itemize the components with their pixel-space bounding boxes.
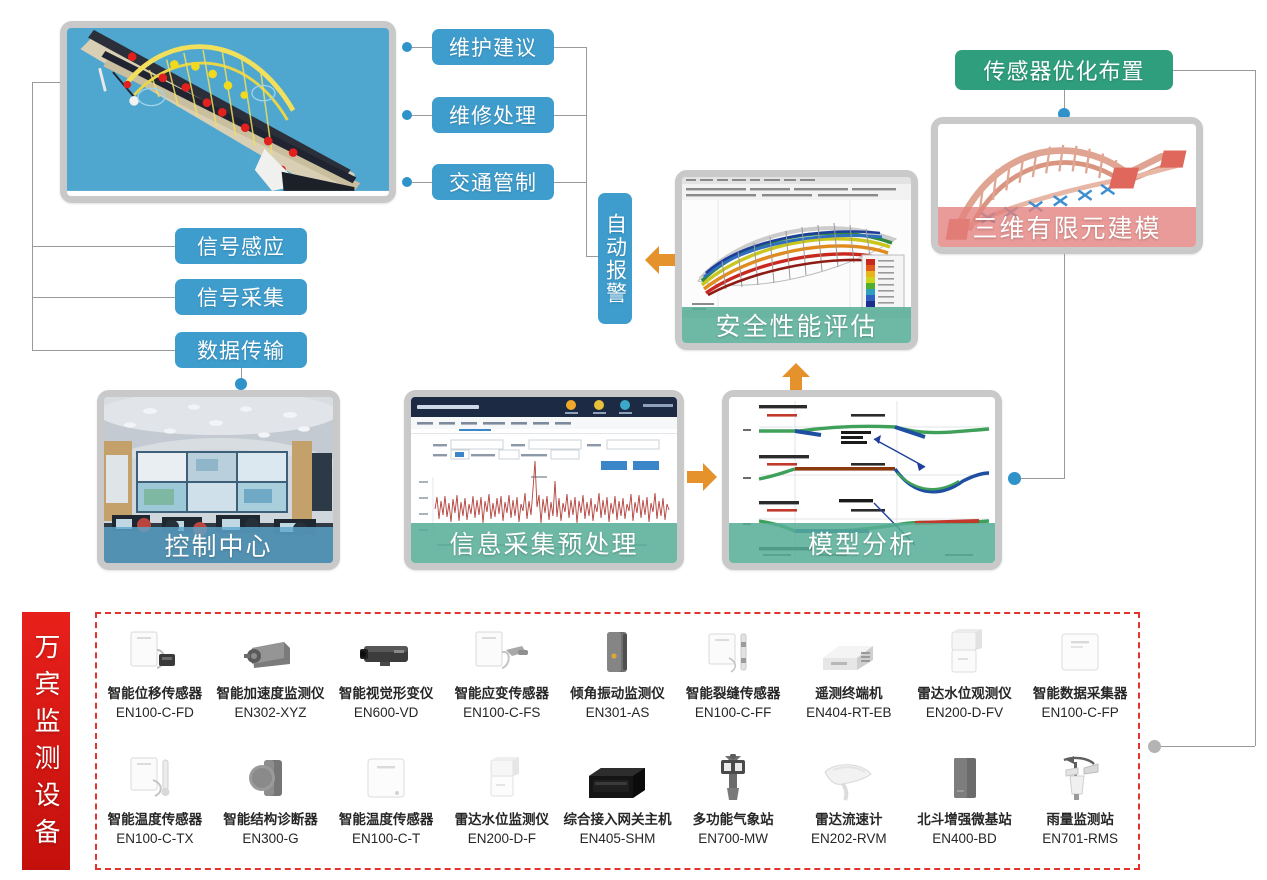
label-sensor-optimal-layout[interactable]: 传感器优化布置 bbox=[955, 50, 1173, 90]
devices-banner: 万宾监测设备 bbox=[22, 612, 70, 870]
device-item[interactable]: 智能加速度监测仪 EN302-XYZ bbox=[213, 628, 329, 723]
device-name: 智能结构诊断器 bbox=[223, 811, 318, 829]
accelerometer-glyph bbox=[234, 628, 306, 680]
device-item[interactable]: 雷达水位监测仪 EN200-D-F bbox=[444, 754, 560, 849]
strain-sensor-glyph bbox=[466, 628, 538, 680]
panel-model-analysis-screen: 模型分析 bbox=[729, 397, 995, 563]
dot-devices-link bbox=[1148, 740, 1161, 753]
right-outer-trunk bbox=[1255, 70, 1256, 746]
device-name: 雨量监测站 bbox=[1046, 811, 1114, 829]
diagram-canvas: 维护建议 维修处理 交通管制 自动报警 信号感应 信号采集 数据传输 传感器优化… bbox=[0, 0, 1267, 880]
accelerometer-icon bbox=[234, 628, 306, 680]
alarm-trunk-line bbox=[586, 47, 587, 256]
inclination-vibration-icon bbox=[581, 628, 653, 680]
device-model: EN200-D-F bbox=[468, 829, 536, 849]
inclinometer-glyph bbox=[581, 628, 653, 680]
devices-row-1: 智能位移传感器 EN100-C-FD 智能加速度监测仪 EN302-XYZ bbox=[97, 628, 1138, 723]
device-name: 智能视觉形变仪 bbox=[339, 685, 434, 703]
line-fem-to-model-analysis bbox=[1064, 254, 1065, 478]
vision-deformation-camera-icon bbox=[350, 628, 422, 680]
panel-control-center-screen: 控制中心 bbox=[104, 397, 333, 563]
device-item[interactable]: 遥测终端机 EN404-RT-EB bbox=[791, 628, 907, 723]
device-model: EN405-SHM bbox=[580, 829, 656, 849]
strain-sensor-icon bbox=[466, 628, 538, 680]
displacement-sensor-glyph bbox=[119, 628, 191, 680]
data-logger-glyph bbox=[1044, 628, 1116, 680]
dot-repair-handling bbox=[402, 110, 412, 120]
device-model: EN100-C-T bbox=[352, 829, 420, 849]
device-name: 雷达水位监测仪 bbox=[455, 811, 550, 829]
device-item[interactable]: 智能温度传感器 EN100-C-T bbox=[328, 754, 444, 849]
label-signal-sensing[interactable]: 信号感应 bbox=[175, 228, 307, 264]
gateway-glyph bbox=[581, 754, 653, 806]
device-name: 智能位移传感器 bbox=[108, 685, 203, 703]
bridge-sensor-layout-illustration bbox=[67, 28, 389, 191]
panel-data-preprocessing-screen: 信息采集预处理 bbox=[411, 397, 677, 563]
dot-traffic-control bbox=[402, 177, 412, 187]
device-model: EN300-G bbox=[242, 829, 298, 849]
device-model: EN100-C-TX bbox=[116, 829, 193, 849]
label-signal-collect[interactable]: 信号采集 bbox=[175, 279, 307, 315]
arrow-up-icon bbox=[780, 363, 812, 393]
label-repair-handling[interactable]: 维修处理 bbox=[432, 97, 554, 133]
rtu-terminal-icon bbox=[813, 628, 885, 680]
displacement-sensor-icon bbox=[119, 628, 191, 680]
device-item[interactable]: 智能数据采集器 EN100-C-FP bbox=[1022, 628, 1138, 723]
crack-sensor-glyph bbox=[697, 628, 769, 680]
line-traffic-control bbox=[412, 182, 434, 183]
device-name: 雷达水位观测仪 bbox=[917, 685, 1012, 703]
panel-safety-evaluation[interactable]: 安全性能评估 bbox=[675, 170, 918, 350]
device-model: EN100-C-FF bbox=[695, 703, 772, 723]
label-maintenance-advice[interactable]: 维护建议 bbox=[432, 29, 554, 65]
device-item[interactable]: 智能结构诊断器 EN300-G bbox=[213, 754, 329, 849]
structure-diagnoser-icon bbox=[234, 754, 306, 806]
device-name: 智能应变传感器 bbox=[455, 685, 550, 703]
device-name: 多功能气象站 bbox=[693, 811, 774, 829]
device-name: 雷达流速计 bbox=[815, 811, 883, 829]
temperature-sensor-icon bbox=[350, 754, 422, 806]
left-branch-signal-sensing bbox=[32, 246, 175, 247]
devices-banner-text: 万宾监测设备 bbox=[33, 627, 59, 855]
radar-water-level-icon bbox=[466, 754, 538, 806]
device-item[interactable]: 多功能气象站 EN700-MW bbox=[675, 754, 791, 849]
caption-model-analysis: 模型分析 bbox=[729, 523, 995, 563]
panel-control-center[interactable]: 控制中心 bbox=[97, 390, 340, 570]
line-repair-handling bbox=[412, 115, 434, 116]
device-name: 智能温度传感器 bbox=[339, 811, 434, 829]
device-item[interactable]: 智能应变传感器 EN100-C-FS bbox=[444, 628, 560, 723]
device-item[interactable]: 综合接入网关主机 EN405-SHM bbox=[560, 754, 676, 849]
device-model: EN100-C-FS bbox=[463, 703, 540, 723]
arrow-model-to-safety bbox=[780, 363, 812, 393]
beidou-base-station-icon bbox=[928, 754, 1000, 806]
weather-station-icon bbox=[697, 754, 769, 806]
line-advice-to-alarm bbox=[554, 47, 586, 48]
arrow-left-icon bbox=[645, 244, 675, 276]
rtu-glyph bbox=[813, 628, 885, 680]
panel-fem-modeling-screen: 三维有限元建模 bbox=[938, 124, 1196, 247]
line-repair-to-alarm bbox=[554, 115, 586, 116]
device-model: EN701-RMS bbox=[1042, 829, 1118, 849]
rain-gauge-glyph bbox=[1044, 754, 1116, 806]
weather-station-glyph bbox=[697, 754, 769, 806]
line-layout-right bbox=[1173, 70, 1255, 71]
arrow-preprocess-to-model bbox=[687, 461, 717, 493]
device-name: 倾角振动监测仪 bbox=[570, 685, 665, 703]
left-branch-data-transmit bbox=[32, 350, 175, 351]
dot-model-analysis bbox=[1008, 472, 1021, 485]
radar-level-glyph bbox=[928, 628, 1000, 680]
diagnoser-glyph bbox=[234, 754, 306, 806]
dot-maintenance-advice bbox=[402, 42, 412, 52]
device-item[interactable]: 倾角振动监测仪 EN301-AS bbox=[560, 628, 676, 723]
label-data-transmit[interactable]: 数据传输 bbox=[175, 332, 307, 368]
radar-level-glyph-2 bbox=[466, 754, 538, 806]
device-model: EN200-D-FV bbox=[926, 703, 1003, 723]
caption-control-center: 控制中心 bbox=[104, 527, 333, 563]
line-layout-to-fem bbox=[1064, 90, 1065, 110]
device-name: 智能数据采集器 bbox=[1033, 685, 1128, 703]
line-right-to-devices bbox=[1160, 746, 1255, 747]
crack-sensor-icon bbox=[697, 628, 769, 680]
temp-sensor-glyph bbox=[350, 754, 422, 806]
device-item[interactable]: 雷达水位观测仪 EN200-D-FV bbox=[907, 628, 1023, 723]
device-item[interactable]: 智能视觉形变仪 EN600-VD bbox=[328, 628, 444, 723]
arrow-right-icon bbox=[687, 461, 717, 493]
panel-bridge-sensors[interactable] bbox=[60, 21, 396, 203]
device-name: 遥测终端机 bbox=[815, 685, 883, 703]
caption-data-preprocessing: 信息采集预处理 bbox=[411, 523, 677, 563]
line-traffic-to-alarm bbox=[554, 182, 586, 183]
device-name: 综合接入网关主机 bbox=[563, 811, 671, 829]
device-name: 智能温度传感器 bbox=[108, 811, 203, 829]
radar-water-level-icon bbox=[928, 628, 1000, 680]
line-maintenance-advice bbox=[412, 47, 434, 48]
label-auto-alarm[interactable]: 自动报警 bbox=[598, 193, 632, 324]
panel-bridge-sensors-screen bbox=[67, 28, 389, 196]
device-model: EN600-VD bbox=[354, 703, 419, 723]
panel-fem-modeling[interactable]: 三维有限元建模 bbox=[931, 117, 1203, 254]
devices-box: 智能位移传感器 EN100-C-FD 智能加速度监测仪 EN302-XYZ bbox=[95, 612, 1140, 870]
caption-fem-modeling: 三维有限元建模 bbox=[938, 207, 1196, 247]
radar-flow-meter-icon bbox=[813, 754, 885, 806]
camera-glyph bbox=[350, 628, 422, 680]
device-item[interactable]: 北斗增强微基站 EN400-BD bbox=[907, 754, 1023, 849]
panel-model-analysis[interactable]: 模型分析 bbox=[722, 390, 1002, 570]
panel-data-preprocessing[interactable]: 信息采集预处理 bbox=[404, 390, 684, 570]
device-model: EN404-RT-EB bbox=[806, 703, 891, 723]
device-item[interactable]: 雨量监测站 EN701-RMS bbox=[1022, 754, 1138, 849]
dot-control-center bbox=[235, 378, 247, 390]
device-name: 北斗增强微基站 bbox=[917, 811, 1012, 829]
label-traffic-control[interactable]: 交通管制 bbox=[432, 164, 554, 200]
device-item[interactable]: 智能裂缝传感器 EN100-C-FF bbox=[675, 628, 791, 723]
device-model: EN100-C-FD bbox=[116, 703, 194, 723]
left-trunk-line bbox=[32, 82, 33, 351]
device-model: EN301-AS bbox=[586, 703, 650, 723]
device-model: EN202-RVM bbox=[811, 829, 887, 849]
temperature-sensor-probe-icon bbox=[119, 754, 191, 806]
device-model: EN400-BD bbox=[932, 829, 997, 849]
panel-safety-evaluation-screen: 安全性能评估 bbox=[682, 177, 911, 343]
temp-probe-glyph bbox=[119, 754, 191, 806]
device-item[interactable]: 智能位移传感器 EN100-C-FD bbox=[97, 628, 213, 723]
gateway-host-icon bbox=[581, 754, 653, 806]
beidou-glyph bbox=[928, 754, 1000, 806]
arrow-safety-to-alarm bbox=[645, 244, 675, 276]
device-item[interactable]: 雷达流速计 EN202-RVM bbox=[791, 754, 907, 849]
device-item[interactable]: 智能温度传感器 EN100-C-TX bbox=[97, 754, 213, 849]
device-name: 智能裂缝传感器 bbox=[686, 685, 781, 703]
line-model-analysis-in bbox=[1020, 478, 1065, 479]
device-model: EN700-MW bbox=[698, 829, 768, 849]
caption-safety-evaluation: 安全性能评估 bbox=[682, 307, 911, 343]
flow-meter-glyph bbox=[813, 754, 885, 806]
left-branch-signal-collect bbox=[32, 297, 175, 298]
device-model: EN302-XYZ bbox=[234, 703, 306, 723]
device-name: 智能加速度监测仪 bbox=[216, 685, 324, 703]
devices-row-2: 智能温度传感器 EN100-C-TX 智能结构诊断器 EN300-G bbox=[97, 754, 1138, 849]
device-model: EN100-C-FP bbox=[1042, 703, 1119, 723]
rain-gauge-icon bbox=[1044, 754, 1116, 806]
data-logger-icon bbox=[1044, 628, 1116, 680]
